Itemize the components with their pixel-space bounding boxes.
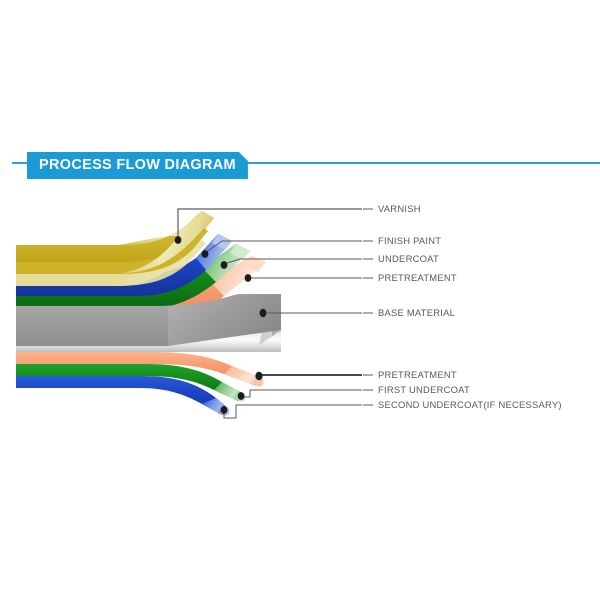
dot-second-undercoat — [221, 406, 228, 414]
dot-base-material — [260, 309, 267, 317]
dot-undercoat — [221, 261, 228, 269]
callout-label-undercoat: UNDERCOAT — [378, 254, 439, 263]
banner: PROCESS FLOW DIAGRAM — [0, 152, 600, 186]
callout-label-pretreatment-bottom: PRETREATMENT — [378, 370, 457, 379]
callout-label-varnish: VARNISH — [378, 204, 421, 213]
dot-pretreatment-top — [245, 274, 252, 282]
callout-label-first-undercoat: FIRST UNDERCOAT — [378, 385, 470, 394]
diagram-canvas: PROCESS FLOW DIAGRAM VARNISH FINISH PAIN… — [0, 0, 600, 600]
leader-second-undercoat — [224, 405, 362, 418]
callout-label-second-undercoat: SECOND UNDERCOAT(IF NECESSARY) — [378, 400, 562, 409]
base-material-core — [16, 306, 168, 346]
callout-label-finish-paint: FINISH PAINT — [378, 236, 441, 245]
dot-first-undercoat — [238, 392, 245, 400]
process-flow-illustration — [0, 0, 600, 600]
leader-first-undercoat — [241, 390, 362, 397]
banner-box: PROCESS FLOW DIAGRAM — [27, 152, 248, 179]
dot-finish-paint — [202, 250, 209, 258]
callout-label-pretreatment-top: PRETREATMENT — [378, 273, 457, 282]
callout-label-base-material: BASE MATERIAL — [378, 308, 455, 317]
dot-varnish — [175, 236, 182, 244]
dot-pretreatment-bottom — [255, 372, 262, 380]
page-title: PROCESS FLOW DIAGRAM — [39, 158, 236, 173]
label-dashes — [363, 209, 373, 405]
